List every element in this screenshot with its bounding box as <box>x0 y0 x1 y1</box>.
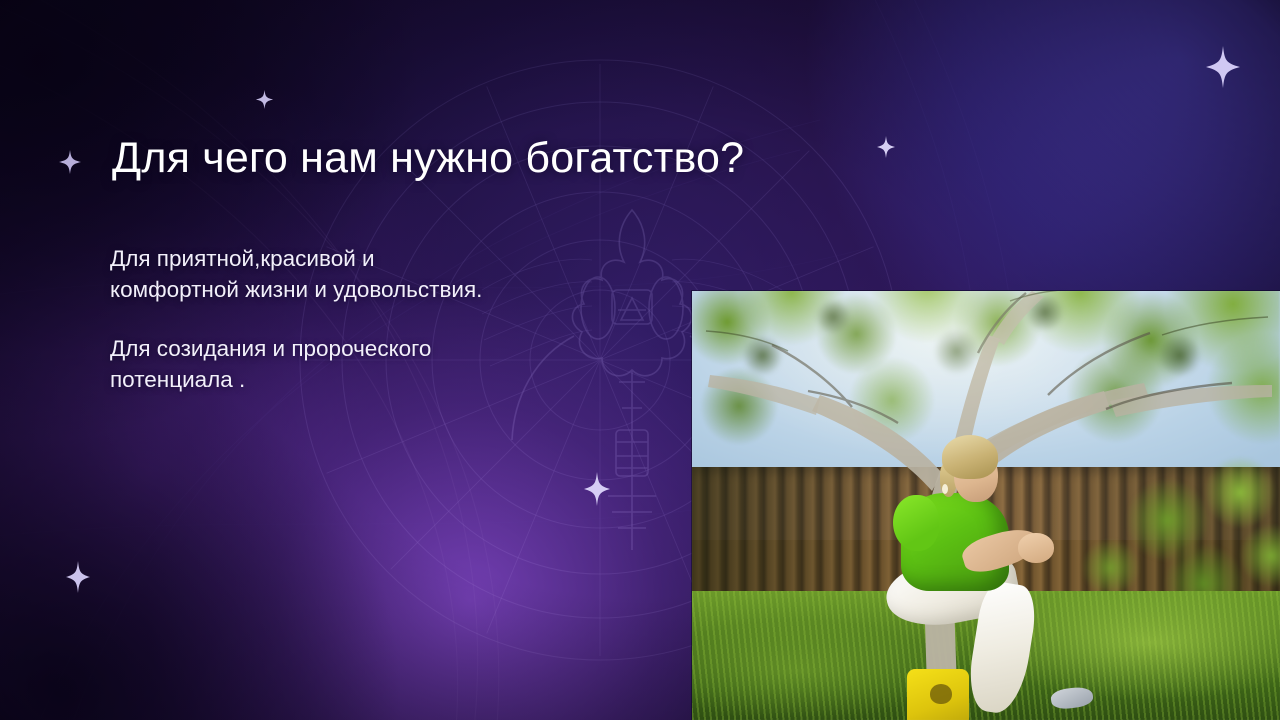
presentation-slide: Для чего нам нужно богатство? Для приятн… <box>0 0 1280 720</box>
photo-woman-hair <box>942 435 998 479</box>
photo-stool-marking <box>930 684 952 704</box>
photo-woman-hands <box>1018 533 1054 563</box>
slide-title: Для чего нам нужно богатство? <box>112 134 744 183</box>
body-paragraph-1: Для приятной,красивой и комфортной жизни… <box>110 243 700 305</box>
body-paragraph-2: Для созидания и пророческого потенциала … <box>110 333 700 395</box>
photo-scene <box>692 291 1280 720</box>
slide-body-text: Для приятной,красивой и комфортной жизни… <box>110 243 700 395</box>
woman-sitting-under-tree-photo <box>692 291 1280 720</box>
photo-woman-sleeve <box>893 495 939 551</box>
